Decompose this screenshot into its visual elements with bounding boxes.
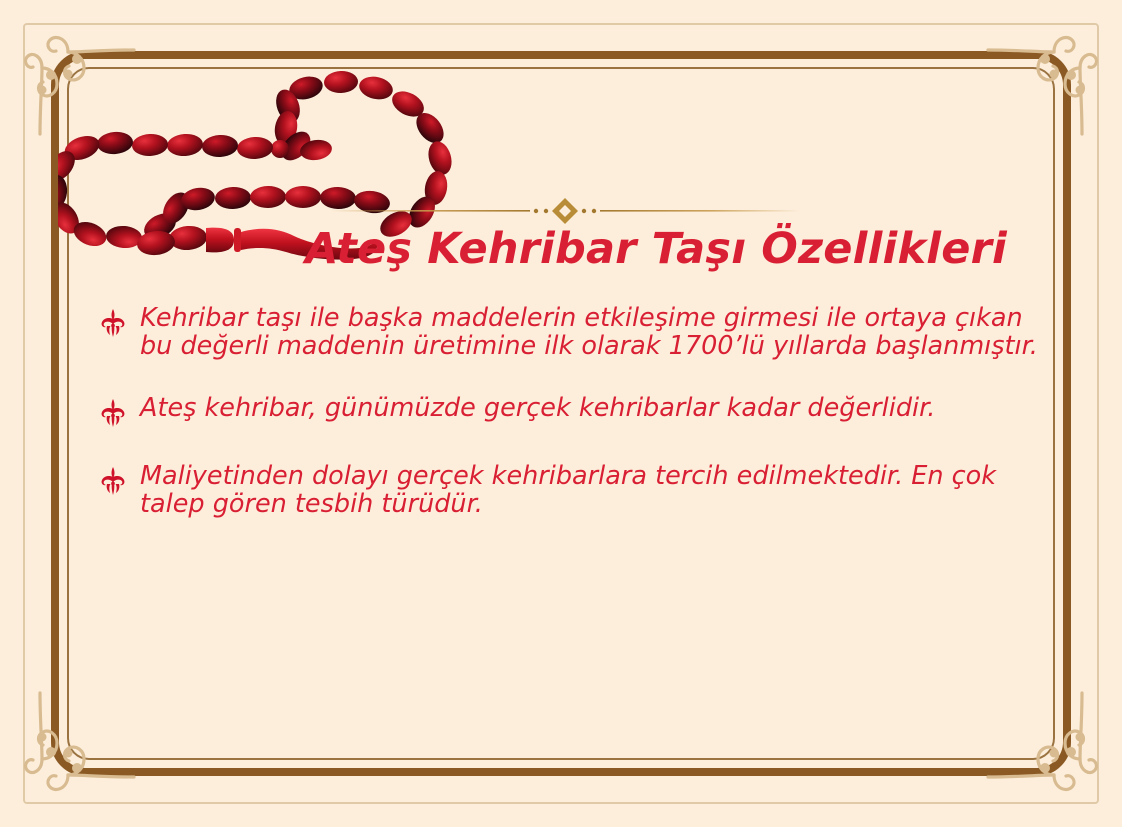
corner-scroll-ornament-top-left [6, 6, 136, 136]
list-item-text: Maliyetinden dolayı gerçek kehribarlara … [140, 462, 1050, 518]
diamond-divider-ornament [330, 196, 800, 226]
fleur-de-lis-icon [100, 466, 126, 496]
list-item-text: Kehribar taşı ile başka maddelerin etkil… [140, 304, 1050, 360]
page-title: Ateş Kehribar Taşı Özellikleri [0, 224, 1122, 274]
list-item: Maliyetinden dolayı gerçek kehribarlara … [100, 462, 1050, 518]
fleur-de-lis-icon [100, 308, 126, 338]
corner-scroll-ornament-bottom-left [6, 691, 136, 821]
fleur-de-lis-icon [100, 398, 126, 428]
list-item-text: Ateş kehribar, günümüzde gerçek kehribar… [140, 394, 1050, 422]
features-list: Kehribar taşı ile başka maddelerin etkil… [100, 304, 1050, 552]
corner-scroll-ornament-bottom-right [986, 691, 1116, 821]
list-item: Kehribar taşı ile başka maddelerin etkil… [100, 304, 1050, 360]
list-item: Ateş kehribar, günümüzde gerçek kehribar… [100, 394, 1050, 428]
corner-scroll-ornament-top-right [986, 6, 1116, 136]
certificate-page: Ateş Kehribar Taşı Özellikleri Kehri [0, 0, 1122, 827]
